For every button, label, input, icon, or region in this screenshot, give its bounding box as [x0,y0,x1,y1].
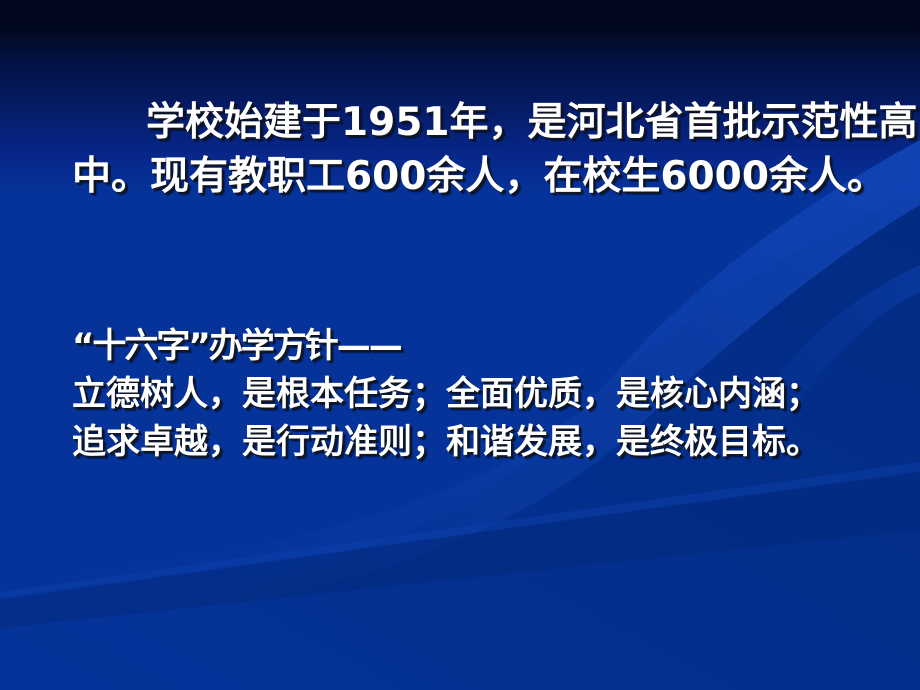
motto-line-1: 立德树人，是根本任务；全面优质，是核心内涵； [72,370,820,418]
intro-line-1: 学校始建于1951年，是河北省首批示范性高 [72,96,918,150]
motto-heading: “十六字”办学方针—— [72,322,820,370]
intro-line-2: 中。现有教职工600余人，在校生6000余人。 [72,150,918,204]
school-motto-paragraph: “十六字”办学方针—— 立德树人，是根本任务；全面优质，是核心内涵； 追求卓越，… [72,322,820,466]
slide-content: 学校始建于1951年，是河北省首批示范性高 中。现有教职工600余人，在校生60… [0,0,920,690]
motto-line-2: 追求卓越，是行动准则；和谐发展，是终极目标。 [72,418,820,466]
school-introduction-paragraph: 学校始建于1951年，是河北省首批示范性高 中。现有教职工600余人，在校生60… [72,96,918,204]
presentation-slide: 学校始建于1951年，是河北省首批示范性高 中。现有教职工600余人，在校生60… [0,0,920,690]
